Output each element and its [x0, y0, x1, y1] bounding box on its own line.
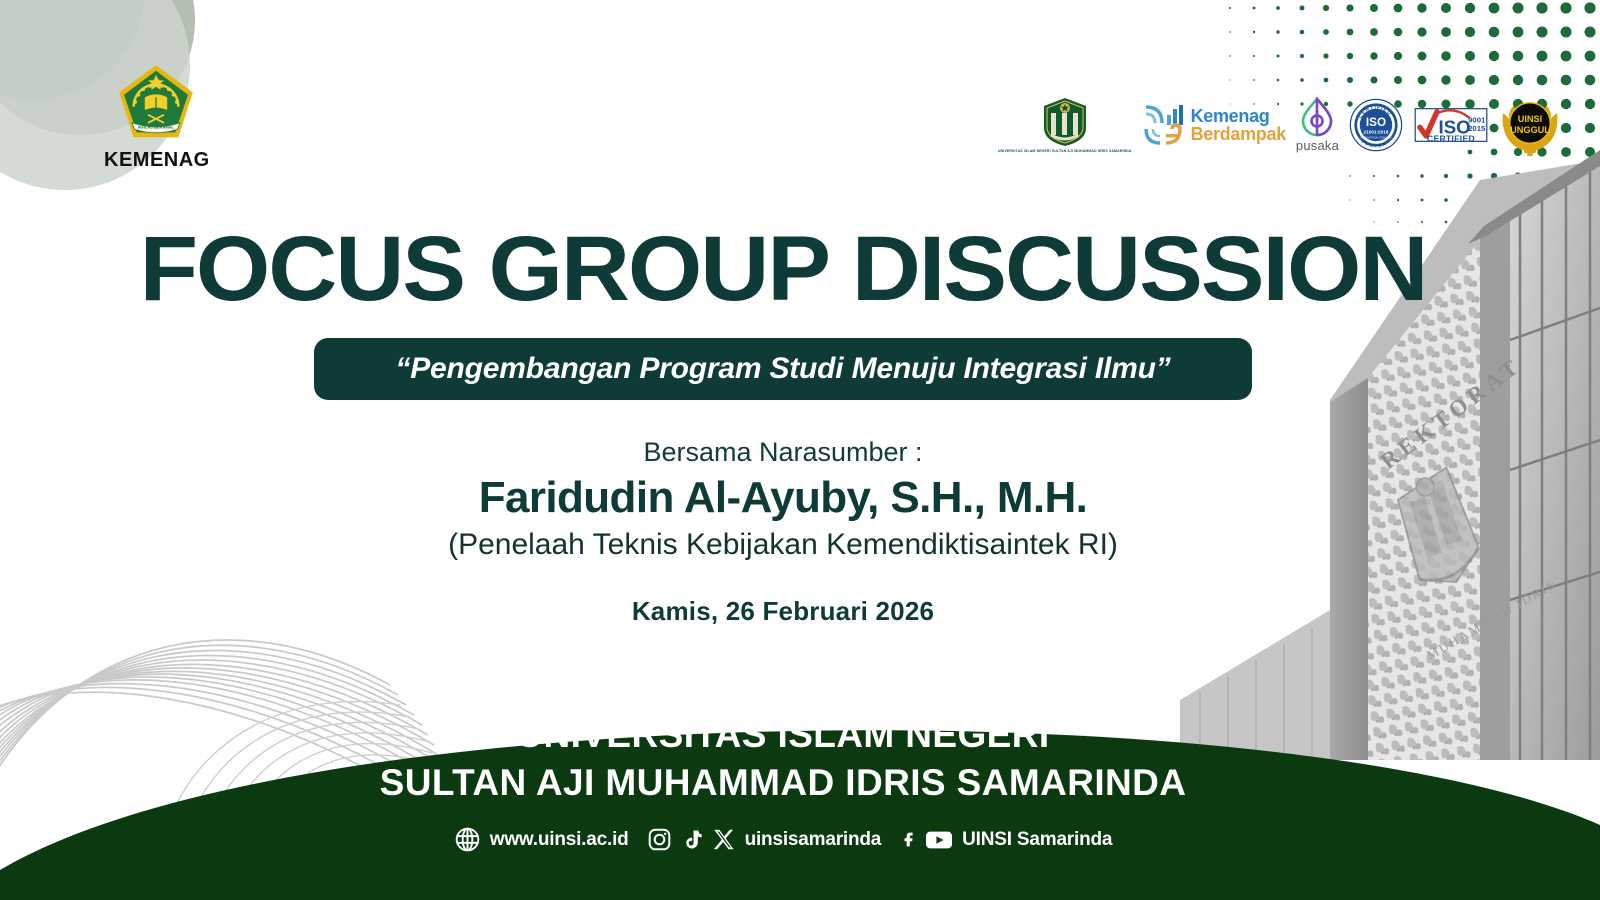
uinsi-unggul-line1: UINSI [1518, 114, 1543, 124]
poster-canvas: REKTORAT MUHAMMAD IDRIS [0, 0, 1600, 900]
uinsi-unggul-badge: UINSI UNGGUL [1499, 94, 1561, 156]
iso-21001-badge: ISO 21001:2018 INTERNATIONAL STANDARD CE… [1349, 98, 1403, 152]
kemenag-berdampak-logo: Kemenag Berdampak [1142, 103, 1286, 147]
social-handle-text[interactable]: uinsisamarinda [745, 829, 882, 851]
contact-bar: www.uinsi.ac.id uinsisamarinda [0, 826, 1566, 853]
facebook-icon[interactable] [899, 827, 916, 852]
kemenag-pentagon-icon: IKHLAS BERAMAL [116, 62, 196, 142]
iso-9001-year: 2015 [1468, 124, 1486, 133]
kemenag-logo: IKHLAS BERAMAL KEMENAG [104, 62, 208, 172]
page-name-text[interactable]: UINSI Samarinda [962, 829, 1112, 851]
uinsi-logo: UNIVERSITAS ISLAM NEGERI SULTAN AJI MUHA… [998, 97, 1132, 153]
iso-21001-main: ISO [1366, 116, 1386, 129]
x-icon[interactable] [712, 827, 736, 852]
kemenag-berdampak-line1: Kemenag [1191, 107, 1286, 125]
globe-icon [454, 826, 481, 853]
uinsi-shield-icon [1042, 97, 1088, 147]
uinsi-unggul-icon: UINSI UNGGUL [1499, 94, 1561, 156]
speaker-name: Faridudin Al-Ayuby, S.H., M.H. [0, 473, 1566, 523]
website-text[interactable]: www.uinsi.ac.id [490, 829, 629, 851]
pusaka-logo: pusaka [1296, 97, 1339, 153]
iso-9001-badge: ISO 9001 2015 CERTIFIED [1413, 104, 1489, 146]
subtitle-banner: “Pengembangan Program Studi Menuju Integ… [314, 338, 1252, 400]
partner-logo-strip: UNIVERSITAS ISLAM NEGERI SULTAN AJI MUHA… [998, 88, 1561, 162]
kemenag-berdampak-icon [1142, 103, 1186, 147]
svg-text:INTERNATIONAL STANDARD: INTERNATIONAL STANDARD [1360, 137, 1392, 140]
subtitle-text: “Pengembangan Program Studi Menuju Integ… [395, 352, 1170, 386]
iso-21001-standard: 21001:2018 [1364, 130, 1389, 135]
speaker-intro-label: Bersama Narasumber : [0, 437, 1566, 468]
footer-green-curve [0, 620, 1600, 900]
institution-line2: SULTAN AJI MUHAMMAD IDRIS SAMARINDA [0, 762, 1566, 804]
kemenag-ribbon-text: IKHLAS BERAMAL [138, 124, 175, 129]
event-date: Kamis, 26 Februari 2026 [0, 596, 1566, 627]
iso-21001-icon: ISO 21001:2018 INTERNATIONAL STANDARD CE… [1349, 98, 1403, 152]
instagram-icon[interactable] [647, 827, 672, 852]
tiktok-icon[interactable] [681, 827, 703, 852]
iso-9001-number: 9001 [1468, 116, 1486, 125]
institution-line1: UNIVERSITAS ISLAM NEGERI [0, 714, 1566, 756]
pusaka-logo-label: pusaka [1296, 138, 1339, 153]
iso-9001-label: CERTIFIED [1427, 133, 1475, 143]
page-title: FOCUS GROUP DISCUSSION [0, 221, 1597, 317]
youtube-icon[interactable] [925, 829, 953, 851]
uinsi-logo-caption: UNIVERSITAS ISLAM NEGERI SULTAN AJI MUHA… [998, 149, 1132, 153]
kemenag-berdampak-line2: Berdampak [1191, 125, 1286, 143]
speaker-role: (Penelaah Teknis Kebijakan Kemendiktisai… [0, 528, 1566, 562]
kemenag-logo-label: KEMENAG [104, 149, 208, 172]
iso-9001-icon: ISO 9001 2015 CERTIFIED [1413, 104, 1489, 146]
uinsi-unggul-line2: UNGGUL [1510, 125, 1550, 135]
pusaka-droplet-icon [1301, 97, 1333, 137]
